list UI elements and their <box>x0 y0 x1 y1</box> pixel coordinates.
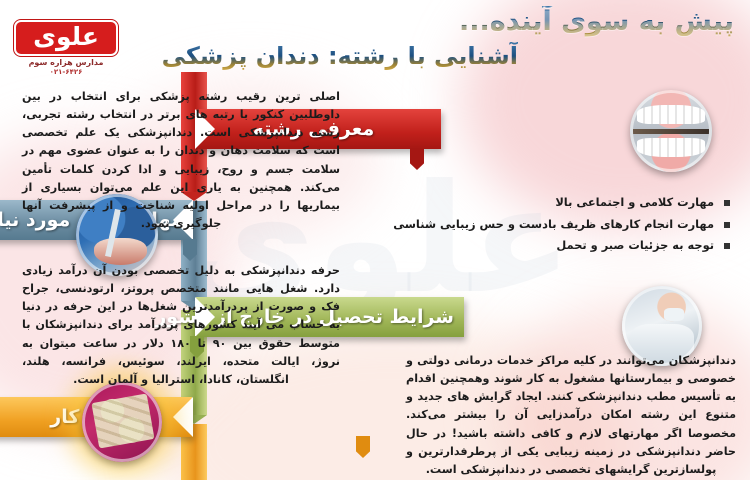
banner-fold-market <box>356 436 370 458</box>
logo-word: علوی <box>22 24 110 50</box>
list-item: مهارت کلامی و اجتماعی بالا <box>400 192 730 214</box>
intro-paragraph: اصلی ترین رقیب رشته پزشکی برای انتخاب در… <box>22 88 340 233</box>
page-subtitle: آشنایی با رشته: دندان پزشکی <box>162 42 518 70</box>
banner-fold-intro <box>410 148 424 170</box>
logo-subtitle: مدارس هزاره سوم <box>14 58 118 67</box>
money-photo <box>82 382 162 462</box>
list-item: مهارت انجام کارهای ظریف با‌دست و حس زیبا… <box>400 214 730 236</box>
list-item: توجه به جزئیات صبر و تحمل <box>400 235 730 257</box>
page-title: پیش به سوی آینده... <box>459 6 734 37</box>
abroad-paragraph: حرفه دندانپزشکی به دلیل تخصصی بودن آن در… <box>22 262 340 389</box>
infographic-canvas: علوی علوی مدارس هزاره سوم ۰۲۱-۶۴۲۶ پیش ب… <box>0 0 750 480</box>
skills-bullet-list: مهارت کلامی و اجتماعی بالا مهارت انجام ک… <box>400 192 730 257</box>
logo-phone: ۰۲۱-۶۴۲۶ <box>14 68 118 76</box>
dental-model-photo <box>630 90 712 172</box>
market-paragraph: دندانپزشکان می‌توانند در کلیه مراکز خدما… <box>406 352 736 479</box>
brand-logo: علوی مدارس هزاره سوم ۰۲۱-۶۴۲۶ <box>14 20 118 76</box>
logo-box: علوی <box>14 20 118 56</box>
